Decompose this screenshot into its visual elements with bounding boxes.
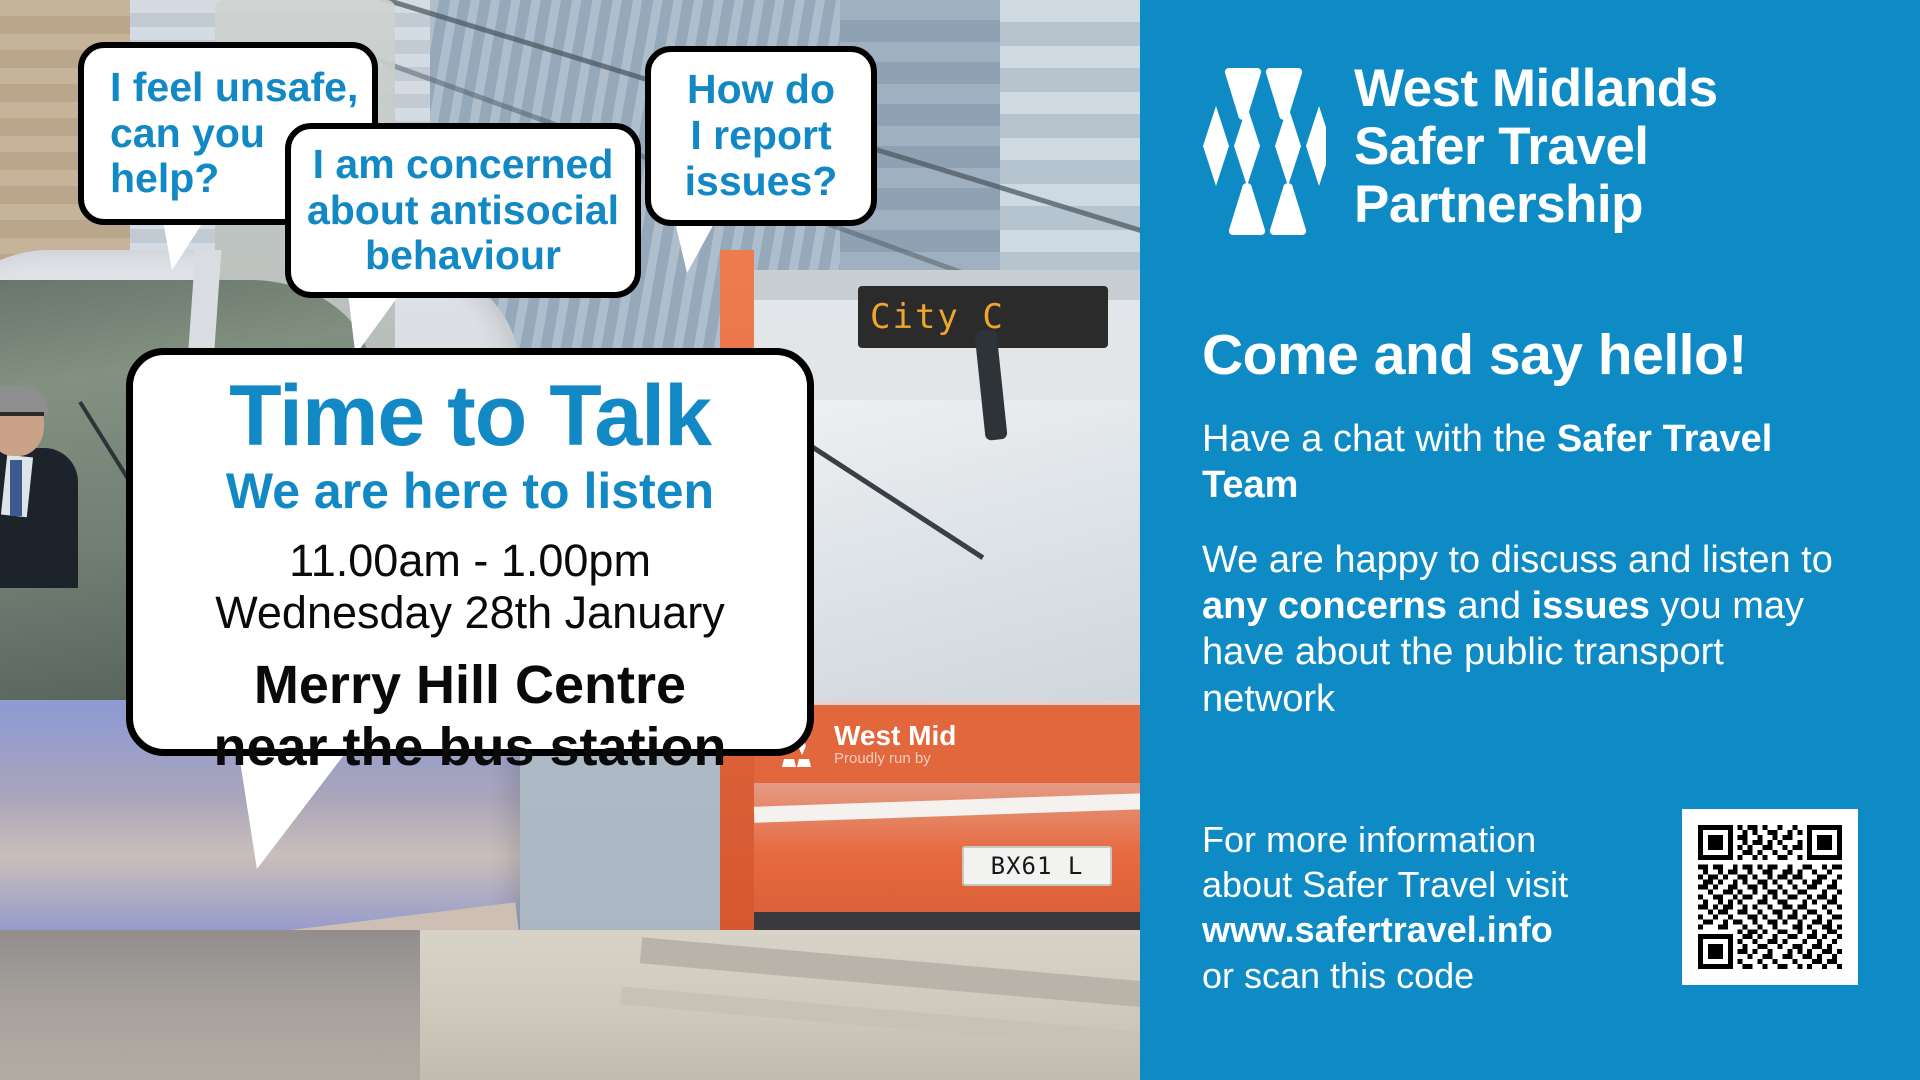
qr-code[interactable] xyxy=(1682,809,1858,985)
info-para1-text: Have a chat with the xyxy=(1202,418,1557,460)
west-midlands-diamond-logo-icon xyxy=(1202,60,1326,240)
event-subhead: We are here to listen xyxy=(226,465,714,518)
bus-brand-line1: West Mid xyxy=(834,722,956,751)
bubble-tail-unsafe xyxy=(150,210,258,318)
poster-root: City C West Mid Proudly run by BX61 L xyxy=(0,0,1920,1080)
bubble-report-line-2: I report xyxy=(690,113,831,159)
brand-name: West Midlands Safer Travel Partnership xyxy=(1354,60,1718,233)
info-paragraph-2: We are happy to discuss and listen to an… xyxy=(1202,537,1842,722)
info-footer: For more information about Safer Travel … xyxy=(1202,809,1858,998)
bus-brand-line2: Proudly run by xyxy=(834,751,956,766)
footer-url[interactable]: www.safertravel.info xyxy=(1202,907,1568,952)
bus-plate-text: BX61 L xyxy=(991,852,1084,880)
bubble-report-line-3: issues? xyxy=(685,159,838,205)
qr-code-icon xyxy=(1698,825,1842,969)
bus-windshield xyxy=(760,400,1140,700)
info-paragraph-1: Have a chat with the Safer Travel Team xyxy=(1202,416,1842,509)
bubble-report-line-1: How do xyxy=(687,67,835,113)
brand-name-line-3: Partnership xyxy=(1354,176,1718,234)
info-para2-text-b: and xyxy=(1447,585,1532,627)
footer-line-2: about Safer Travel visit xyxy=(1202,862,1568,907)
bus-driver xyxy=(0,390,90,580)
speech-bubble-event: Time to Talk We are here to listen 11.00… xyxy=(126,348,814,756)
bubble-tail-report xyxy=(660,213,760,313)
speech-bubble-antisocial: I am concerned about antisocial behaviou… xyxy=(285,123,641,298)
event-venue-line-2: near the bus station xyxy=(213,718,726,777)
footer-line-1: For more information xyxy=(1202,817,1568,862)
driver-tie xyxy=(10,460,22,516)
bubble-antisocial-line-2: about antisocial xyxy=(307,188,619,234)
footer-line-4: or scan this code xyxy=(1202,953,1568,998)
bubble-antisocial-line-3: behaviour xyxy=(365,233,561,279)
event-venue-line-1: Merry Hill Centre xyxy=(254,656,686,715)
info-para2-bold-issues: issues xyxy=(1532,585,1650,627)
brand-name-line-2: Safer Travel xyxy=(1354,118,1718,176)
speech-bubble-report: How do I report issues? xyxy=(645,46,877,226)
bubble-antisocial-line-1: I am concerned xyxy=(313,142,614,188)
brand-name-line-1: West Midlands xyxy=(1354,60,1718,118)
bubble-unsafe-line-1: I feel unsafe, xyxy=(110,65,372,111)
event-headline: Time to Talk xyxy=(229,373,711,459)
brand-lockup: West Midlands Safer Travel Partnership xyxy=(1202,60,1860,240)
event-date: Wednesday 28th January xyxy=(215,588,725,638)
info-para2-text-a: We are happy to discuss and listen to xyxy=(1202,539,1833,581)
bus-brand-text: West Mid Proudly run by xyxy=(834,722,956,766)
background-photo: City C West Mid Proudly run by BX61 L xyxy=(0,0,1140,1080)
info-heading: Come and say hello! xyxy=(1202,322,1860,388)
info-para2-bold-concerns: any concerns xyxy=(1202,585,1447,627)
bus-number-plate: BX61 L xyxy=(962,846,1112,886)
info-panel: West Midlands Safer Travel Partnership C… xyxy=(1140,0,1920,1080)
driver-glasses-icon xyxy=(0,412,44,424)
info-footer-text: For more information about Safer Travel … xyxy=(1202,809,1568,998)
pavement-shadow xyxy=(0,930,420,1080)
event-time: 11.00am - 1.00pm xyxy=(289,536,651,586)
